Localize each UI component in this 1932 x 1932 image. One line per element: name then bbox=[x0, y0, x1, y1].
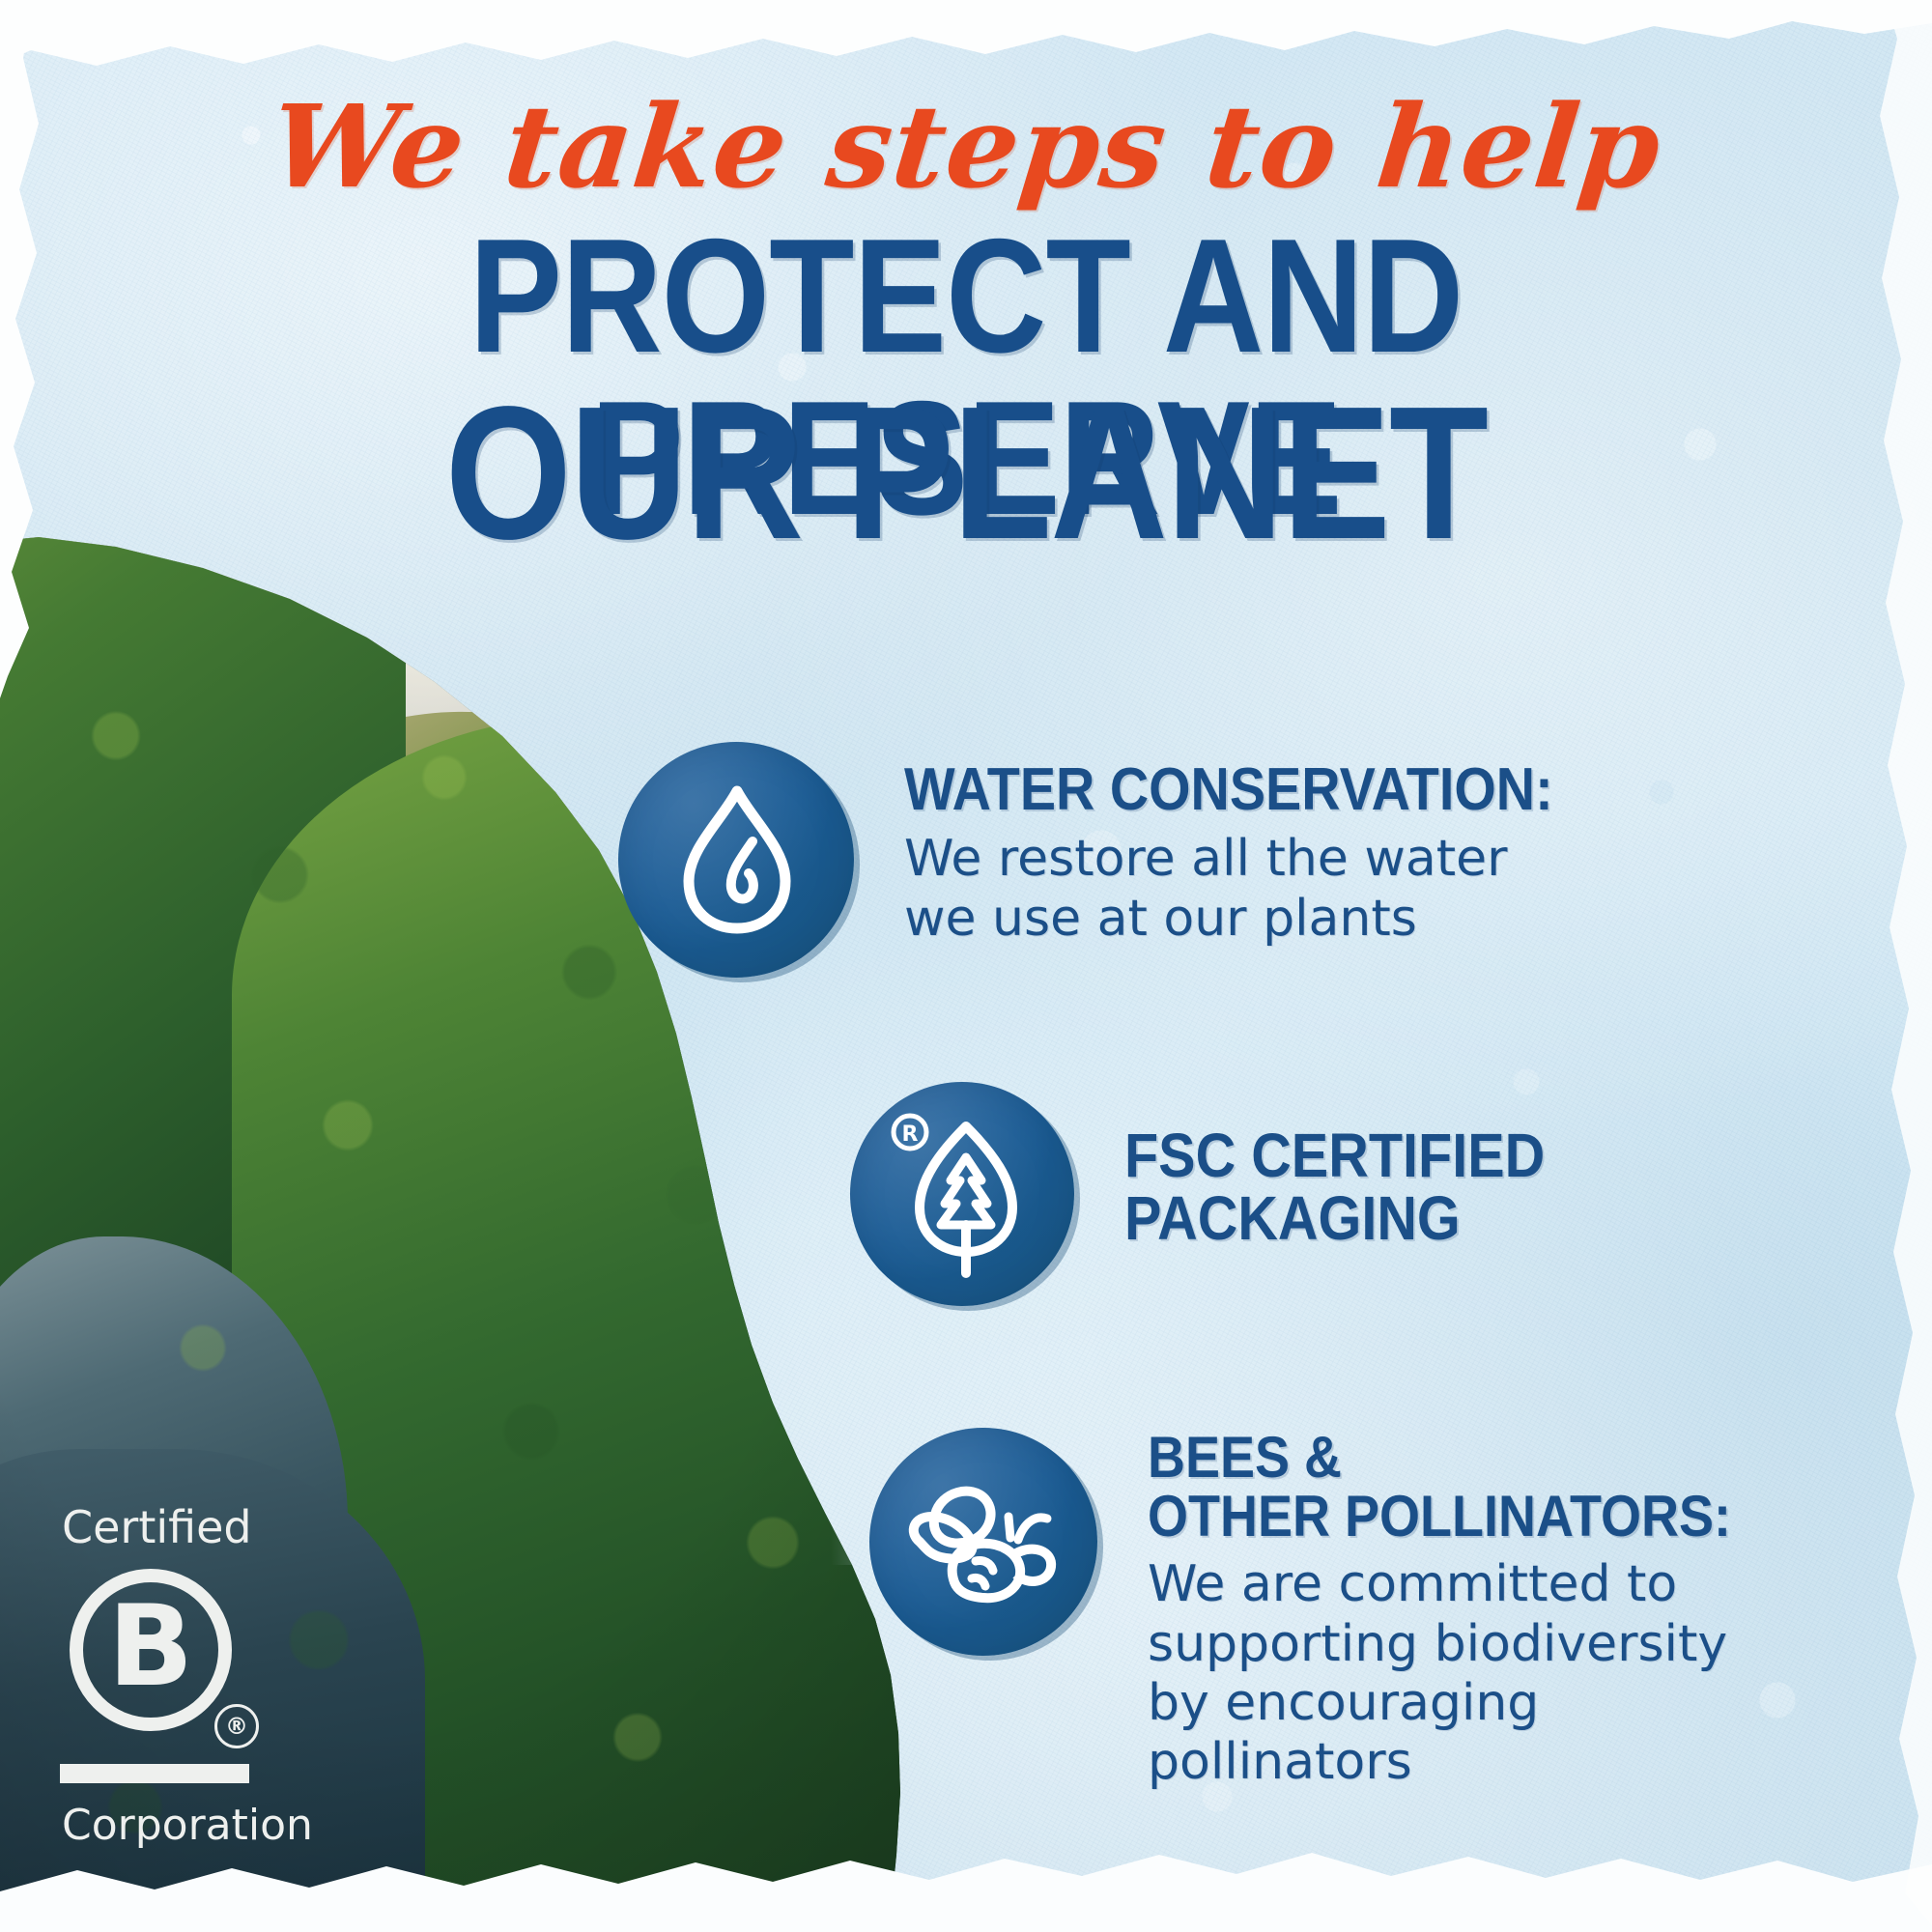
feature-fsc-text: FSC CERTIFIED PACKAGING bbox=[1074, 1082, 1592, 1251]
feature-fsc-packaging: R FSC CERTIFIED PACKAGING bbox=[850, 1082, 1592, 1306]
bcorp-corporation-label: Corporation bbox=[62, 1804, 282, 1847]
bcorp-logo: Certified B ® Corporation bbox=[60, 1505, 282, 1847]
feature-bees-body: We are committed to supporting biodivers… bbox=[1148, 1555, 1796, 1792]
bcorp-certified-label: Certified bbox=[62, 1505, 282, 1549]
svg-text:R: R bbox=[902, 1122, 919, 1147]
poster-canvas: We take steps to help PROTECT AND PRESER… bbox=[0, 0, 1932, 1932]
registered-trademark-icon: ® bbox=[214, 1704, 259, 1748]
script-tagline: We take steps to help bbox=[0, 79, 1932, 213]
feature-bees-pollinators: BEES & OTHER POLLINATORS: We are committ… bbox=[869, 1428, 1796, 1793]
feature-water-body: We restore all the water we use at our p… bbox=[904, 830, 1625, 949]
bcorp-divider-bar bbox=[60, 1764, 249, 1783]
feature-water-title: WATER CONSERVATION: bbox=[904, 759, 1553, 820]
feature-bees-text: BEES & OTHER POLLINATORS: We are committ… bbox=[1097, 1428, 1796, 1793]
bee-icon bbox=[869, 1428, 1097, 1656]
headline-line-2: OUR PLANET bbox=[135, 379, 1797, 568]
feature-bees-title: BEES & OTHER POLLINATORS: bbox=[1148, 1428, 1731, 1546]
bcorp-letter-b: B bbox=[70, 1569, 232, 1731]
water-drop-icon bbox=[618, 742, 854, 978]
feature-water-conservation: WATER CONSERVATION: We restore all the w… bbox=[618, 742, 1625, 978]
bcorp-mark: B ® bbox=[60, 1565, 253, 1758]
feature-water-text: WATER CONSERVATION: We restore all the w… bbox=[854, 742, 1625, 949]
fsc-leaf-tree-icon: R bbox=[850, 1082, 1074, 1306]
feature-fsc-title: FSC CERTIFIED PACKAGING bbox=[1124, 1095, 1545, 1251]
